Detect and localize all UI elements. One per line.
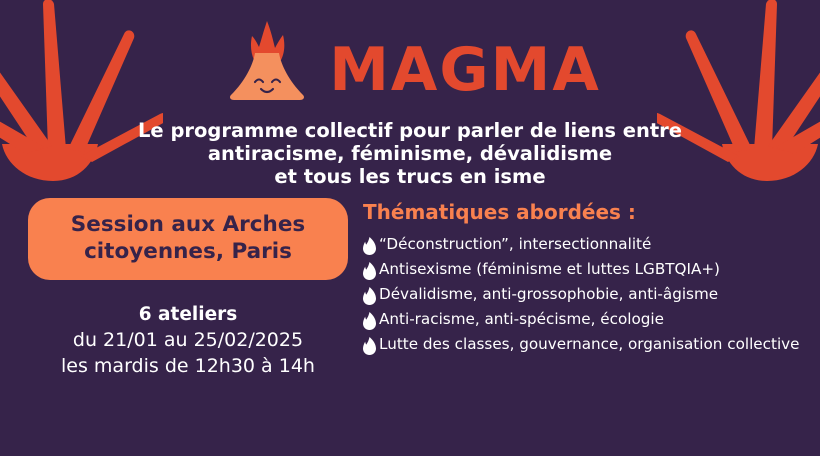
theme-item-label: Dévalidisme, anti-grossophobie, anti-âgi… [379, 285, 718, 304]
theme-item: Dévalidisme, anti-grossophobie, anti-âgi… [363, 285, 803, 305]
theme-item-label: Antisexisme (féminisme et luttes LGBTQIA… [379, 260, 720, 279]
flame-bullet-icon [363, 337, 376, 355]
workshop-dates: du 21/01 au 25/02/2025 [28, 327, 348, 353]
session-schedule: 6 ateliers du 21/01 au 25/02/2025 les ma… [28, 302, 348, 379]
volcano-mascot-icon [219, 19, 315, 115]
subtitle-line-2: antiracisme, féminisme, dévalidisme [0, 142, 820, 165]
workshop-count: 6 ateliers [28, 302, 348, 327]
logo-row: MAGMA [0, 17, 820, 117]
theme-item: Lutte des classes, gouvernance, organisa… [363, 335, 803, 355]
theme-item: Anti-racisme, anti-spécisme, écologie [363, 310, 803, 330]
session-info-column: Session aux Arches citoyennes, Paris 6 a… [28, 198, 348, 379]
subtitle-line-1: Le programme collectif pour parler de li… [0, 119, 820, 142]
brand-title: MAGMA [329, 40, 601, 100]
flame-bullet-icon [363, 262, 376, 280]
workshop-times: les mardis de 12h30 à 14h [28, 353, 348, 379]
theme-item: Antisexisme (féminisme et luttes LGBTQIA… [363, 260, 803, 280]
theme-item: “Déconstruction”, intersectionnalité [363, 235, 803, 255]
subtitle-line-3: et tous les trucs en isme [0, 165, 820, 188]
flame-bullet-icon [363, 237, 376, 255]
themes-list: “Déconstruction”, intersectionnalitéAnti… [363, 235, 803, 355]
badge-line-2: citoyennes, Paris [46, 238, 330, 265]
flame-bullet-icon [363, 312, 376, 330]
badge-line-1: Session aux Arches [46, 211, 330, 238]
theme-item-label: Lutte des classes, gouvernance, organisa… [379, 335, 800, 354]
themes-column: Thématiques abordées : “Déconstruction”,… [363, 199, 803, 360]
session-location-badge: Session aux Arches citoyennes, Paris [28, 198, 348, 280]
subtitle: Le programme collectif pour parler de li… [0, 119, 820, 188]
poster-canvas: MAGMA Le programme collectif pour parler… [0, 0, 820, 456]
theme-item-label: “Déconstruction”, intersectionnalité [379, 235, 651, 254]
theme-item-label: Anti-racisme, anti-spécisme, écologie [379, 310, 664, 329]
flame-bullet-icon [363, 287, 376, 305]
themes-title: Thématiques abordées : [363, 199, 803, 225]
